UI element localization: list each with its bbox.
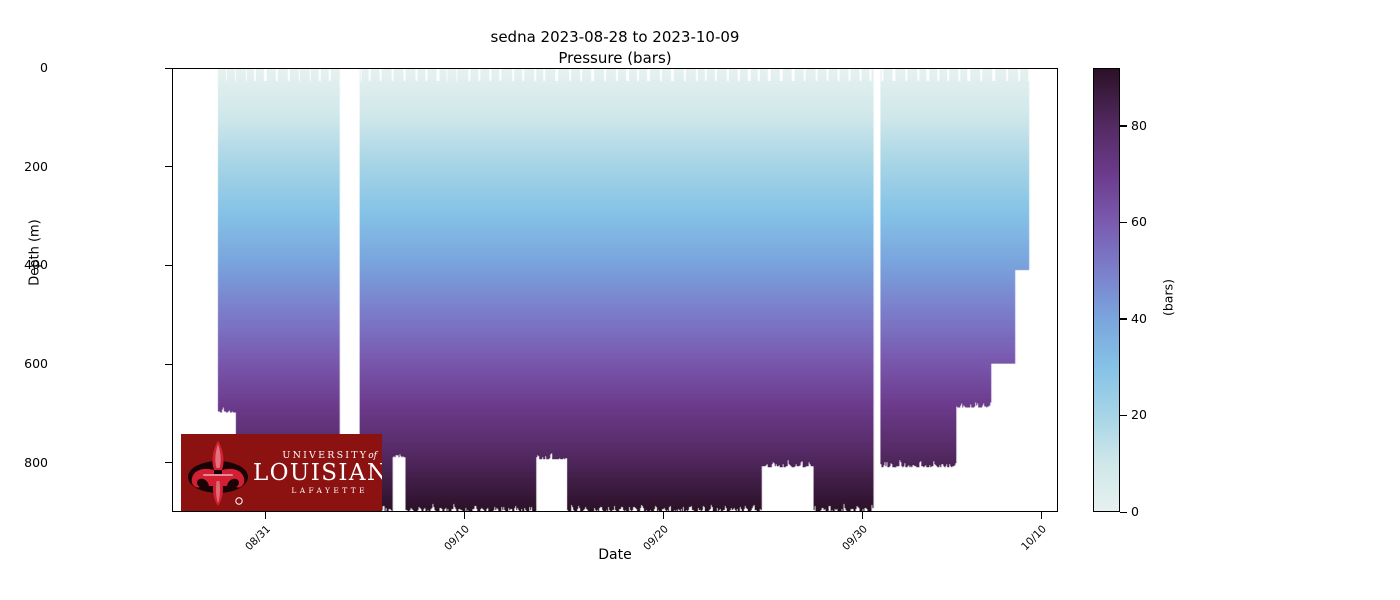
colorbar-tick-mark	[1120, 125, 1127, 126]
colorbar-tick-mark	[1120, 222, 1127, 223]
y-tick-mark	[165, 166, 172, 167]
logo-line-lafayette: LAFAYETTE	[253, 487, 382, 495]
colorbar-label: (bars)	[1161, 238, 1176, 358]
y-tick-mark	[165, 364, 172, 365]
y-axis-label: Depth (m)	[28, 153, 43, 353]
figure-title-subtitle: Pressure (bars)	[0, 48, 1230, 69]
x-tick-mark	[1041, 512, 1042, 519]
x-tick-mark	[663, 512, 664, 519]
y-tick-label-0: 0	[0, 62, 48, 74]
x-tick-mark	[464, 512, 465, 519]
colorbar-tick-label-40: 40	[1131, 313, 1147, 325]
figure-title-line1: sedna 2023-08-28 to 2023-10-09	[0, 27, 1230, 48]
x-tick-mark	[265, 512, 266, 519]
colorbar-tick-mark	[1120, 512, 1127, 513]
y-tick-mark	[165, 68, 172, 69]
colorbar-tick-mark	[1120, 318, 1127, 319]
y-tick-mark	[165, 462, 172, 463]
x-tick-mark	[862, 512, 863, 519]
y-tick-mark	[165, 265, 172, 266]
colorbar-tick-label-60: 60	[1131, 216, 1147, 228]
university-logo-text: UNIVERSITYof LOUISIANA LAFAYETTE	[249, 451, 382, 495]
colorbar-tick-label-0: 0	[1131, 506, 1139, 518]
y-tick-label-600: 600	[0, 358, 48, 370]
y-tick-label-400: 400	[0, 259, 48, 271]
colorbar-tick-label-20: 20	[1131, 409, 1147, 421]
colorbar-tick-label-80: 80	[1131, 120, 1147, 132]
y-tick-label-200: 200	[0, 161, 48, 173]
colorbar-gradient	[1094, 69, 1119, 511]
colorbar-tick-mark	[1120, 415, 1127, 416]
fleur-de-lis-icon	[187, 437, 249, 509]
university-logo-watermark: UNIVERSITYof LOUISIANA LAFAYETTE	[181, 434, 382, 511]
colorbar[interactable]	[1093, 68, 1120, 512]
x-axis-label: Date	[172, 547, 1058, 563]
figure-canvas: sedna 2023-08-28 to 2023-10-09 Pressure …	[0, 0, 1400, 600]
logo-line-louisiana: LOUISIANA	[253, 462, 382, 485]
y-tick-label-800: 800	[0, 457, 48, 469]
